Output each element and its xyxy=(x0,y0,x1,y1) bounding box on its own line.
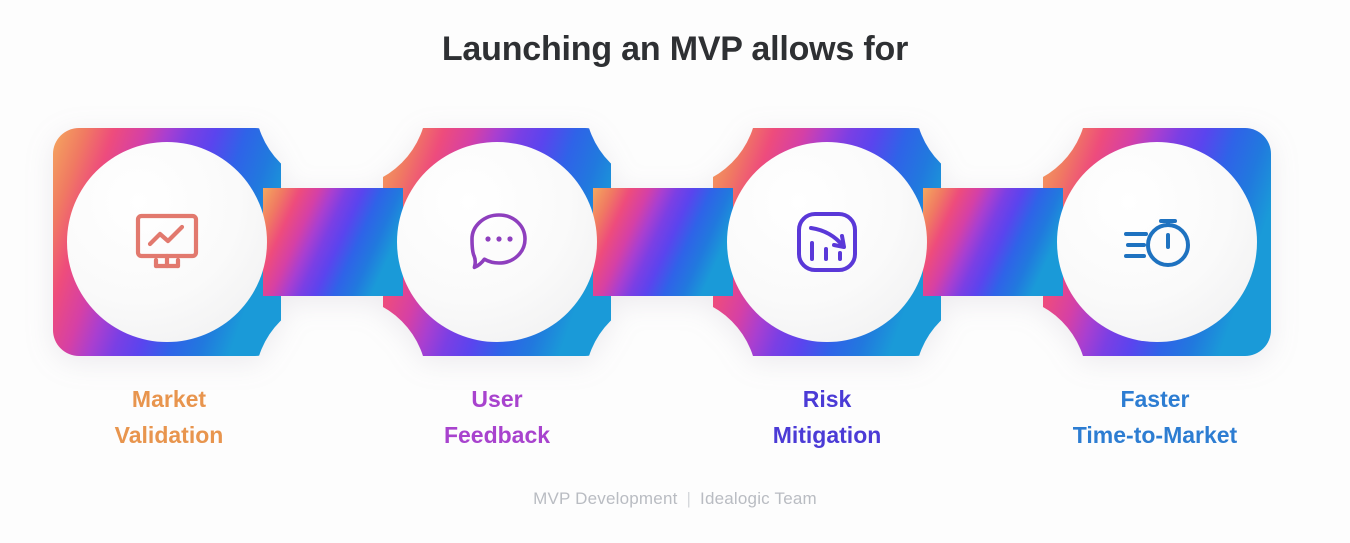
step-circle-risk-mitigation[interactable] xyxy=(727,142,927,342)
step-label-risk-mitigation: Risk Mitigation xyxy=(697,382,957,453)
step-label-line1: Faster xyxy=(1120,386,1189,412)
speech-bubble-dots-icon xyxy=(454,199,540,285)
step-label-line1: Risk xyxy=(803,386,852,412)
page-title: Launching an MVP allows for xyxy=(0,30,1350,69)
footer-source: MVP Development xyxy=(533,489,677,508)
step-label-line2: Mitigation xyxy=(697,418,957,454)
step-circle-market-validation[interactable] xyxy=(67,142,267,342)
step-label-user-feedback: User Feedback xyxy=(367,382,627,453)
step-labels: Market Validation User Feedback Risk Mit… xyxy=(53,382,1271,462)
monitor-trend-icon xyxy=(124,199,210,285)
step-circle-faster-time-to-market[interactable] xyxy=(1057,142,1257,342)
step-label-line2: Feedback xyxy=(367,418,627,454)
step-label-market-validation: Market Validation xyxy=(39,382,299,453)
step-label-line2: Time-to-Market xyxy=(1025,418,1285,454)
step-label-line2: Validation xyxy=(39,418,299,454)
step-label-line1: User xyxy=(471,386,522,412)
footer-caption: MVP Development | Idealogic Team xyxy=(0,489,1350,509)
declining-chart-arrow-icon xyxy=(784,199,870,285)
footer-separator: | xyxy=(682,489,695,508)
step-label-faster-time-to-market: Faster Time-to-Market xyxy=(1025,382,1285,453)
footer-team: Idealogic Team xyxy=(700,489,817,508)
benefits-chain xyxy=(53,128,1271,356)
step-circle-user-feedback[interactable] xyxy=(397,142,597,342)
stopwatch-speed-icon xyxy=(1114,199,1200,285)
step-label-line1: Market xyxy=(132,386,206,412)
